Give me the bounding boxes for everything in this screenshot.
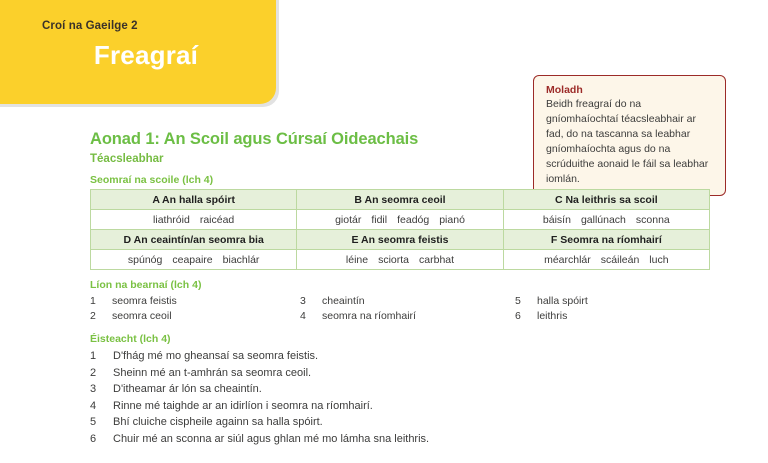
word-table: A An halla spóirtB An seomra ceoilC Na l… [90, 189, 710, 270]
item-text: Sheinn mé an t-amhrán sa seomra ceoil. [113, 367, 311, 379]
item-number: 3 [300, 294, 322, 309]
item-number: 1 [90, 294, 112, 309]
item-text: leithris [537, 310, 567, 322]
gap-answer-list: 1seomra feistis2seomra ceoil3cheaintín4s… [90, 294, 715, 324]
table-cell-wordlist: spúnógceapairebiachlár [91, 250, 297, 270]
item-number: 3 [90, 381, 113, 398]
list-item: 4Rinne mé taighde ar an idirlíon i seomr… [90, 398, 715, 415]
table-header-cell: B An seomra ceoil [297, 190, 503, 210]
word-item: spúnóg [128, 254, 162, 266]
list-item: 1D'fhág mé mo gheansaí sa seomra feistis… [90, 348, 715, 365]
list-item: 2seomra ceoil [90, 309, 177, 324]
page-title: Freagraí [42, 40, 250, 71]
item-number: 5 [515, 294, 537, 309]
table-header-row: D An ceaintín/an seomra biaE An seomra f… [91, 230, 710, 250]
table-header-cell: F Seomra na ríomhairí [503, 230, 709, 250]
item-number: 6 [515, 309, 537, 324]
table-cell-wordlist: léinesciortacarbhat [297, 250, 503, 270]
word-item: scáileán [601, 254, 640, 266]
list-item: 3D'itheamar ár lón sa cheaintín. [90, 381, 715, 398]
word-item: liathróid [153, 214, 190, 226]
item-text: Bhí cluiche cispheile againn sa halla sp… [113, 416, 323, 428]
item-number: 2 [90, 365, 113, 382]
table-header-cell: D An ceaintín/an seomra bia [91, 230, 297, 250]
table-cell-wordlist: báisíngallúnachsconna [503, 210, 709, 230]
list-item: 5halla spóirt [515, 294, 588, 309]
section-label-lion-na-bearnai: Líon na bearnaí (lch 4) [90, 279, 715, 291]
section-label-seomrai: Seomraí na scoile (lch 4) [90, 174, 715, 186]
word-item: feadóg [397, 214, 429, 226]
series-name: Croí na Gaeilge 2 [42, 20, 250, 32]
item-text: D'itheamar ár lón sa cheaintín. [113, 383, 262, 395]
table-header-row: A An halla spóirtB An seomra ceoilC Na l… [91, 190, 710, 210]
table-cell-wordlist: liathróidraicéad [91, 210, 297, 230]
item-number: 5 [90, 414, 113, 431]
table-header-cell: C Na leithris sa scoil [503, 190, 709, 210]
table-cell-wordlist: giotárfidilfeadógpianó [297, 210, 503, 230]
table-row: spúnógceapairebiachlárléinesciortacarbha… [91, 250, 710, 270]
word-item: gallúnach [581, 214, 626, 226]
word-item: méarchlár [544, 254, 591, 266]
item-text: seomra na ríomhairí [322, 310, 416, 322]
item-number: 6 [90, 431, 113, 448]
gap-list-column: 3cheaintín4seomra na ríomhairí [300, 294, 416, 324]
table-cell-wordlist: méarchlárscáileánluch [503, 250, 709, 270]
list-item: 4seomra na ríomhairí [300, 309, 416, 324]
main-content: Aonad 1: An Scoil agus Cúrsaí Oideachais… [90, 130, 715, 447]
item-text: seomra feistis [112, 295, 177, 307]
word-item: luch [649, 254, 668, 266]
unit-heading: Aonad 1: An Scoil agus Cúrsaí Oideachais [90, 130, 715, 149]
table-row: liathróidraicéadgiotárfidilfeadógpianóbá… [91, 210, 710, 230]
item-text: seomra ceoil [112, 310, 172, 322]
listening-answer-list: 1D'fhág mé mo gheansaí sa seomra feistis… [90, 348, 715, 447]
list-item: 3cheaintín [300, 294, 416, 309]
word-item: pianó [439, 214, 465, 226]
list-item: 5Bhí cluiche cispheile againn sa halla s… [90, 414, 715, 431]
list-item: 1seomra feistis [90, 294, 177, 309]
word-item: carbhat [419, 254, 454, 266]
word-item: giotár [335, 214, 361, 226]
gap-list-column: 5halla spóirt6leithris [515, 294, 588, 324]
list-item: 6Chuir mé an sconna ar siúl agus ghlan m… [90, 431, 715, 448]
word-item: ceapaire [172, 254, 212, 266]
masthead-banner: Croí na Gaeilge 2 Freagraí [0, 0, 276, 104]
table-header-cell: A An halla spóirt [91, 190, 297, 210]
word-item: biachlár [223, 254, 260, 266]
item-number: 1 [90, 348, 113, 365]
item-number: 4 [300, 309, 322, 324]
word-item: léine [346, 254, 368, 266]
word-item: báisín [543, 214, 571, 226]
word-item: sciorta [378, 254, 409, 266]
item-number: 2 [90, 309, 112, 324]
word-item: fidil [371, 214, 387, 226]
item-text: cheaintín [322, 295, 365, 307]
word-item: sconna [636, 214, 670, 226]
item-number: 4 [90, 398, 113, 415]
list-item: 6leithris [515, 309, 588, 324]
table-header-cell: E An seomra feistis [297, 230, 503, 250]
callout-title: Moladh [546, 84, 715, 96]
item-text: Chuir mé an sconna ar siúl agus ghlan mé… [113, 433, 429, 445]
item-text: halla spóirt [537, 295, 588, 307]
list-item: 2Sheinn mé an t-amhrán sa seomra ceoil. [90, 365, 715, 382]
book-subtitle: Téacsleabhar [90, 153, 715, 165]
item-text: D'fhág mé mo gheansaí sa seomra feistis. [113, 350, 318, 362]
section-label-eisteacht: Éisteacht (lch 4) [90, 333, 715, 345]
item-text: Rinne mé taighde ar an idirlíon i seomra… [113, 400, 373, 412]
gap-list-column: 1seomra feistis2seomra ceoil [90, 294, 177, 324]
word-item: raicéad [200, 214, 234, 226]
